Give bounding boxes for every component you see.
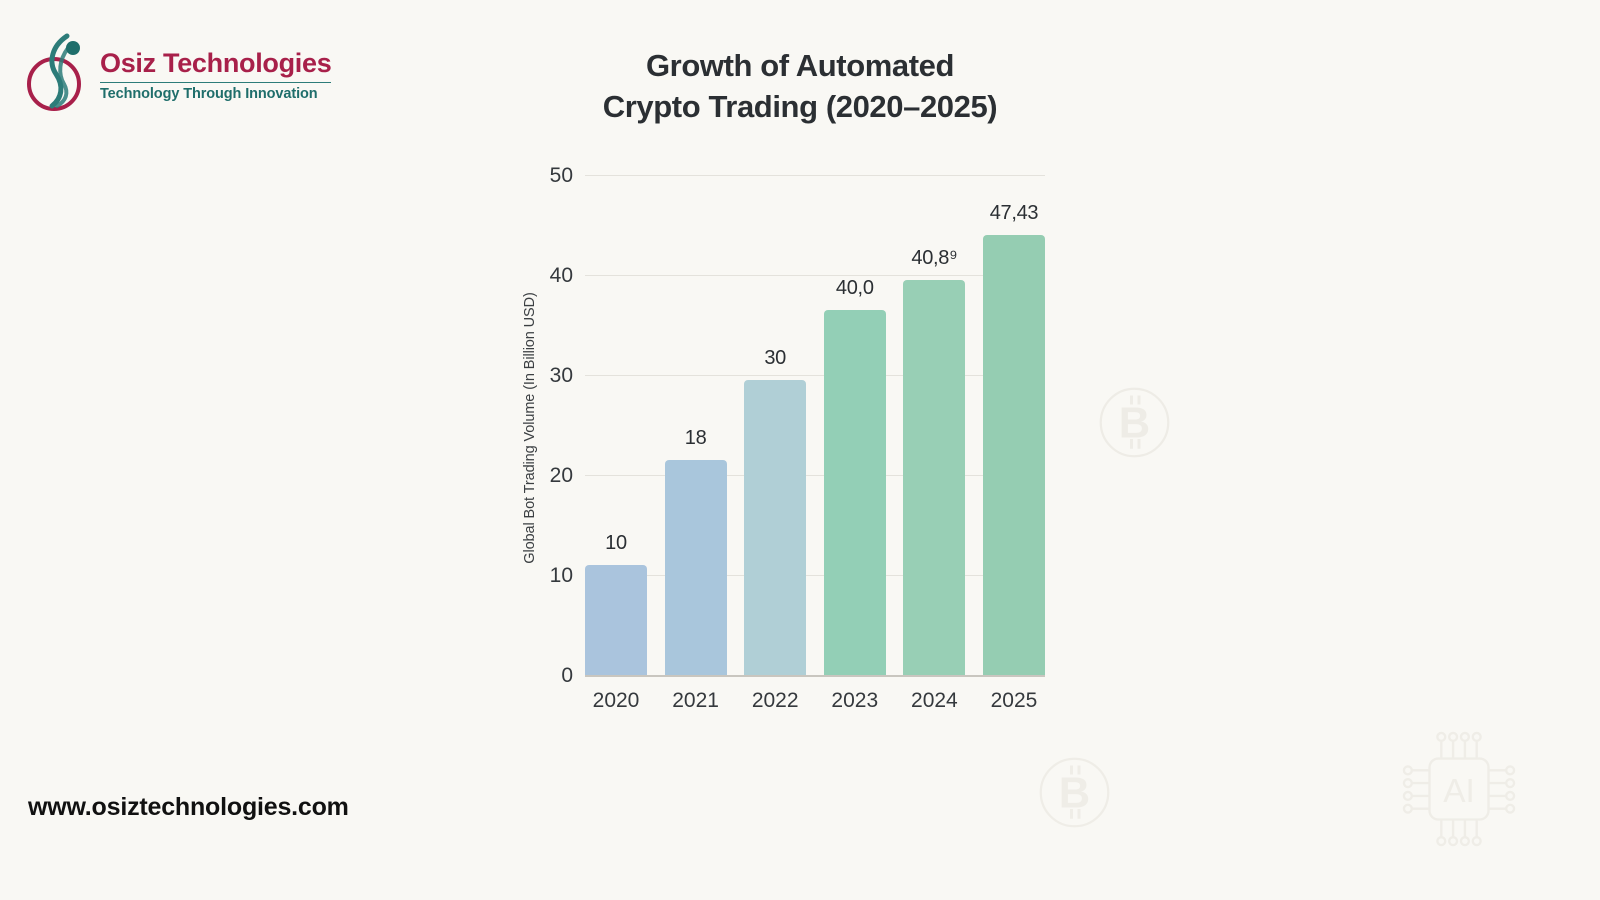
bar-column[interactable]: 40,8⁹2024: [903, 175, 965, 675]
bar[interactable]: [983, 235, 1045, 675]
chart-title-line-1: Growth of Automated: [500, 46, 1100, 87]
bar-column[interactable]: 40,02023: [824, 175, 886, 675]
svg-text:B: B: [1119, 400, 1150, 448]
y-axis-tick-label: 20: [550, 464, 573, 488]
chart-title: Growth of Automated Crypto Trading (2020…: [500, 46, 1100, 128]
bar-column[interactable]: 47,432025: [983, 175, 1045, 675]
ai-chip-icon: AI: [1400, 725, 1518, 855]
plot-area: Global Bot Trading Volume (In Billion US…: [500, 175, 1100, 735]
bar[interactable]: [824, 310, 886, 675]
bar-value-label: 47,43: [990, 202, 1039, 225]
bitcoin-icon: B: [1037, 755, 1112, 830]
brand-name: Osiz Technologies: [100, 49, 331, 77]
bar[interactable]: [903, 280, 965, 675]
svg-text:AI: AI: [1443, 773, 1475, 810]
x-axis-tick-label: 2023: [831, 689, 878, 713]
x-axis-tick-label: 2024: [911, 689, 958, 713]
osiz-figure-circle-logo-icon: [26, 26, 92, 121]
y-axis-tick-label: 30: [550, 364, 573, 388]
x-axis-tick-label: 2021: [672, 689, 719, 713]
x-axis-tick-label: 2020: [593, 689, 640, 713]
chart-container: Growth of Automated Crypto Trading (2020…: [500, 20, 1100, 880]
bar-column[interactable]: 182021: [665, 175, 727, 675]
bar-series: 10202018202130202240,0202340,8⁹202447,43…: [585, 175, 1045, 675]
website-url[interactable]: www.osiztechnologies.com: [28, 793, 349, 822]
x-axis-tick-label: 2022: [752, 689, 799, 713]
svg-text:B: B: [1059, 770, 1090, 818]
chart-title-line-2: Crypto Trading (2020–2025): [500, 87, 1100, 128]
brand-logo-text: Osiz Technologies Technology Through Inn…: [100, 45, 331, 101]
bar-value-label: 30: [764, 347, 786, 370]
bar[interactable]: [585, 565, 647, 675]
bar[interactable]: [665, 460, 727, 675]
brand-divider: [100, 82, 331, 83]
brand-logo[interactable]: Osiz Technologies Technology Through Inn…: [26, 26, 331, 121]
bar-value-label: 10: [605, 532, 627, 555]
bar[interactable]: [744, 380, 806, 675]
bar-column[interactable]: 302022: [744, 175, 806, 675]
bar-column[interactable]: 102020: [585, 175, 647, 675]
y-axis-tick-label: 0: [561, 664, 573, 688]
bar-value-label: 40,0: [836, 277, 874, 300]
y-axis-tick-label: 40: [550, 264, 573, 288]
bar-value-label: 40,8⁹: [911, 247, 957, 270]
y-axis-tick-label: 50: [550, 164, 573, 188]
gridline: [585, 675, 1045, 677]
x-axis-tick-label: 2025: [991, 689, 1038, 713]
y-axis-label: Global Bot Trading Volume (In Billion US…: [522, 213, 538, 643]
bar-value-label: 18: [685, 427, 707, 450]
bitcoin-icon: B: [1097, 385, 1172, 460]
y-axis-tick-label: 10: [550, 564, 573, 588]
brand-tagline: Technology Through Innovation: [100, 86, 331, 102]
poster-canvas: Osiz Technologies Technology Through Inn…: [0, 0, 1600, 900]
